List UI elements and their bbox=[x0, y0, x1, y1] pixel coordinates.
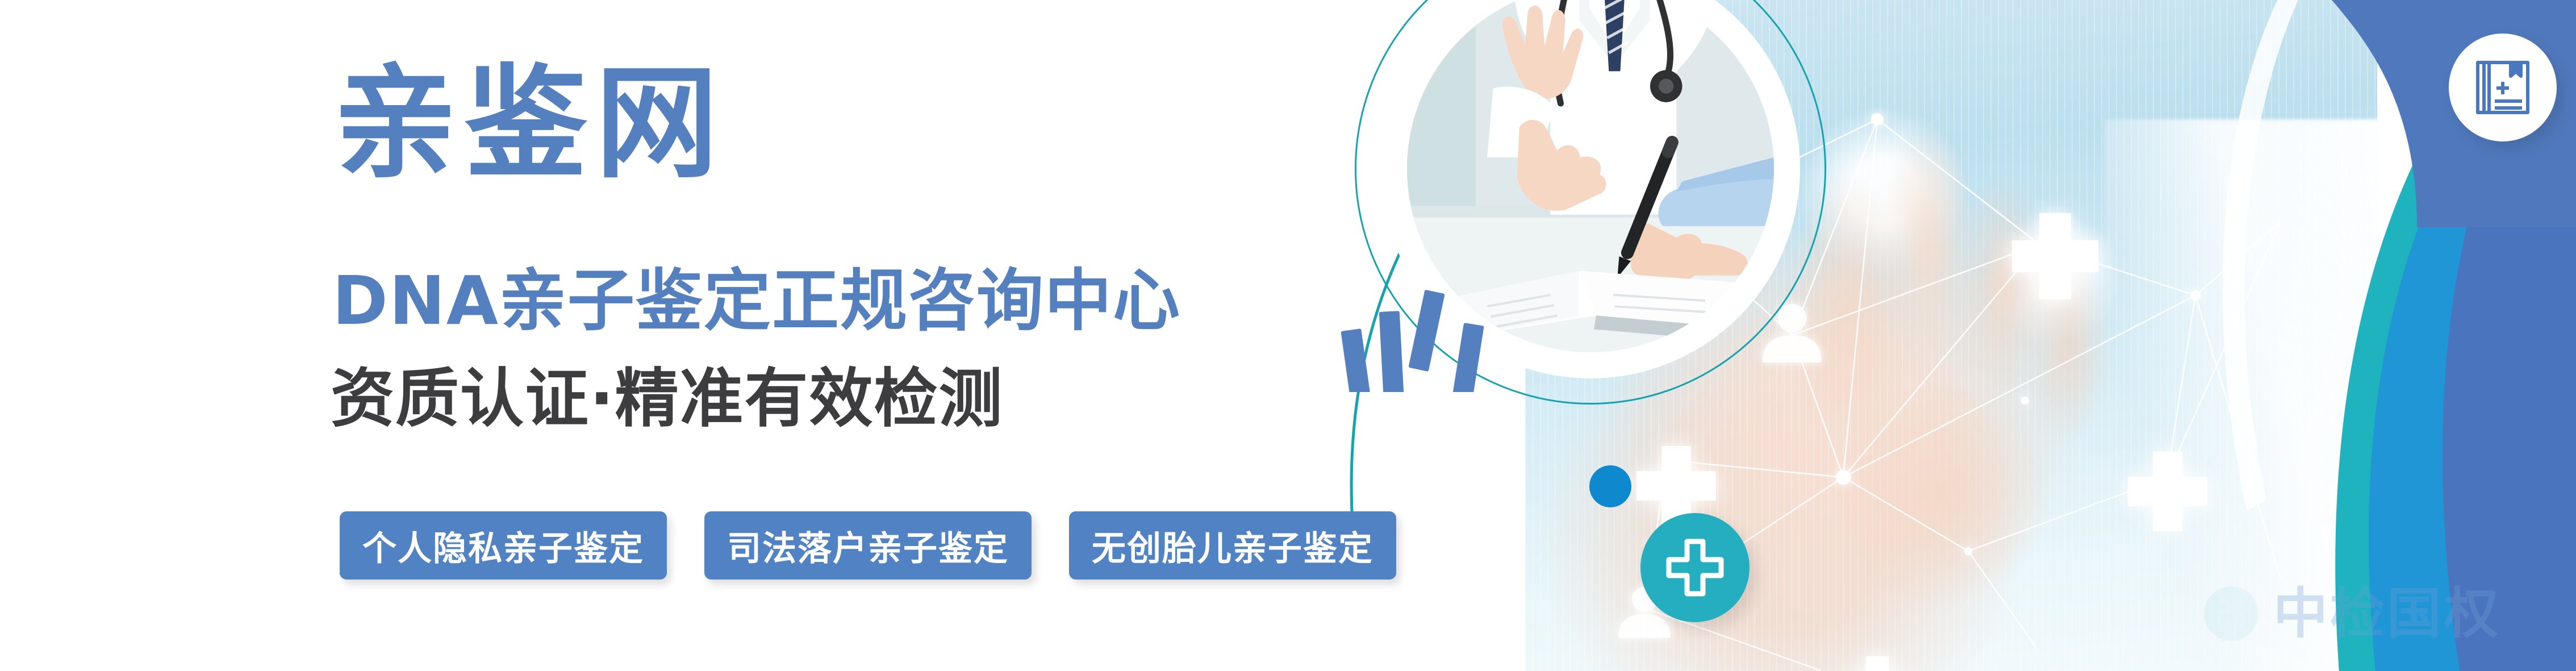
blue-dot-decoration bbox=[1589, 465, 1631, 507]
brand-title: 亲鉴网 bbox=[334, 62, 726, 185]
pill-personal-privacy[interactable]: 个人隐私亲子鉴定 bbox=[340, 511, 667, 580]
banner-copy: 亲鉴网 DNA亲子鉴定正规咨询中心 资质认证·精准有效检测 个人隐私亲子鉴定 司… bbox=[0, 0, 1397, 671]
pill-judicial-residence[interactable]: 司法落户亲子鉴定 bbox=[704, 511, 1032, 580]
medical-cross-icon bbox=[1663, 536, 1727, 599]
medical-report-badge bbox=[2449, 34, 2557, 141]
service-pill-group: 个人隐私亲子鉴定 司法落户亲子鉴定 无创胎儿亲子鉴定 bbox=[340, 511, 1396, 580]
medical-report-book-icon bbox=[2473, 58, 2532, 117]
pill-noninvasive-prenatal[interactable]: 无创胎儿亲子鉴定 bbox=[1069, 511, 1396, 580]
banner-tagline: 资质认证·精准有效检测 bbox=[331, 367, 1004, 431]
banner-subtitle: DNA亲子鉴定正规咨询中心 bbox=[332, 267, 1181, 334]
medical-cross-badge bbox=[1640, 513, 1750, 622]
